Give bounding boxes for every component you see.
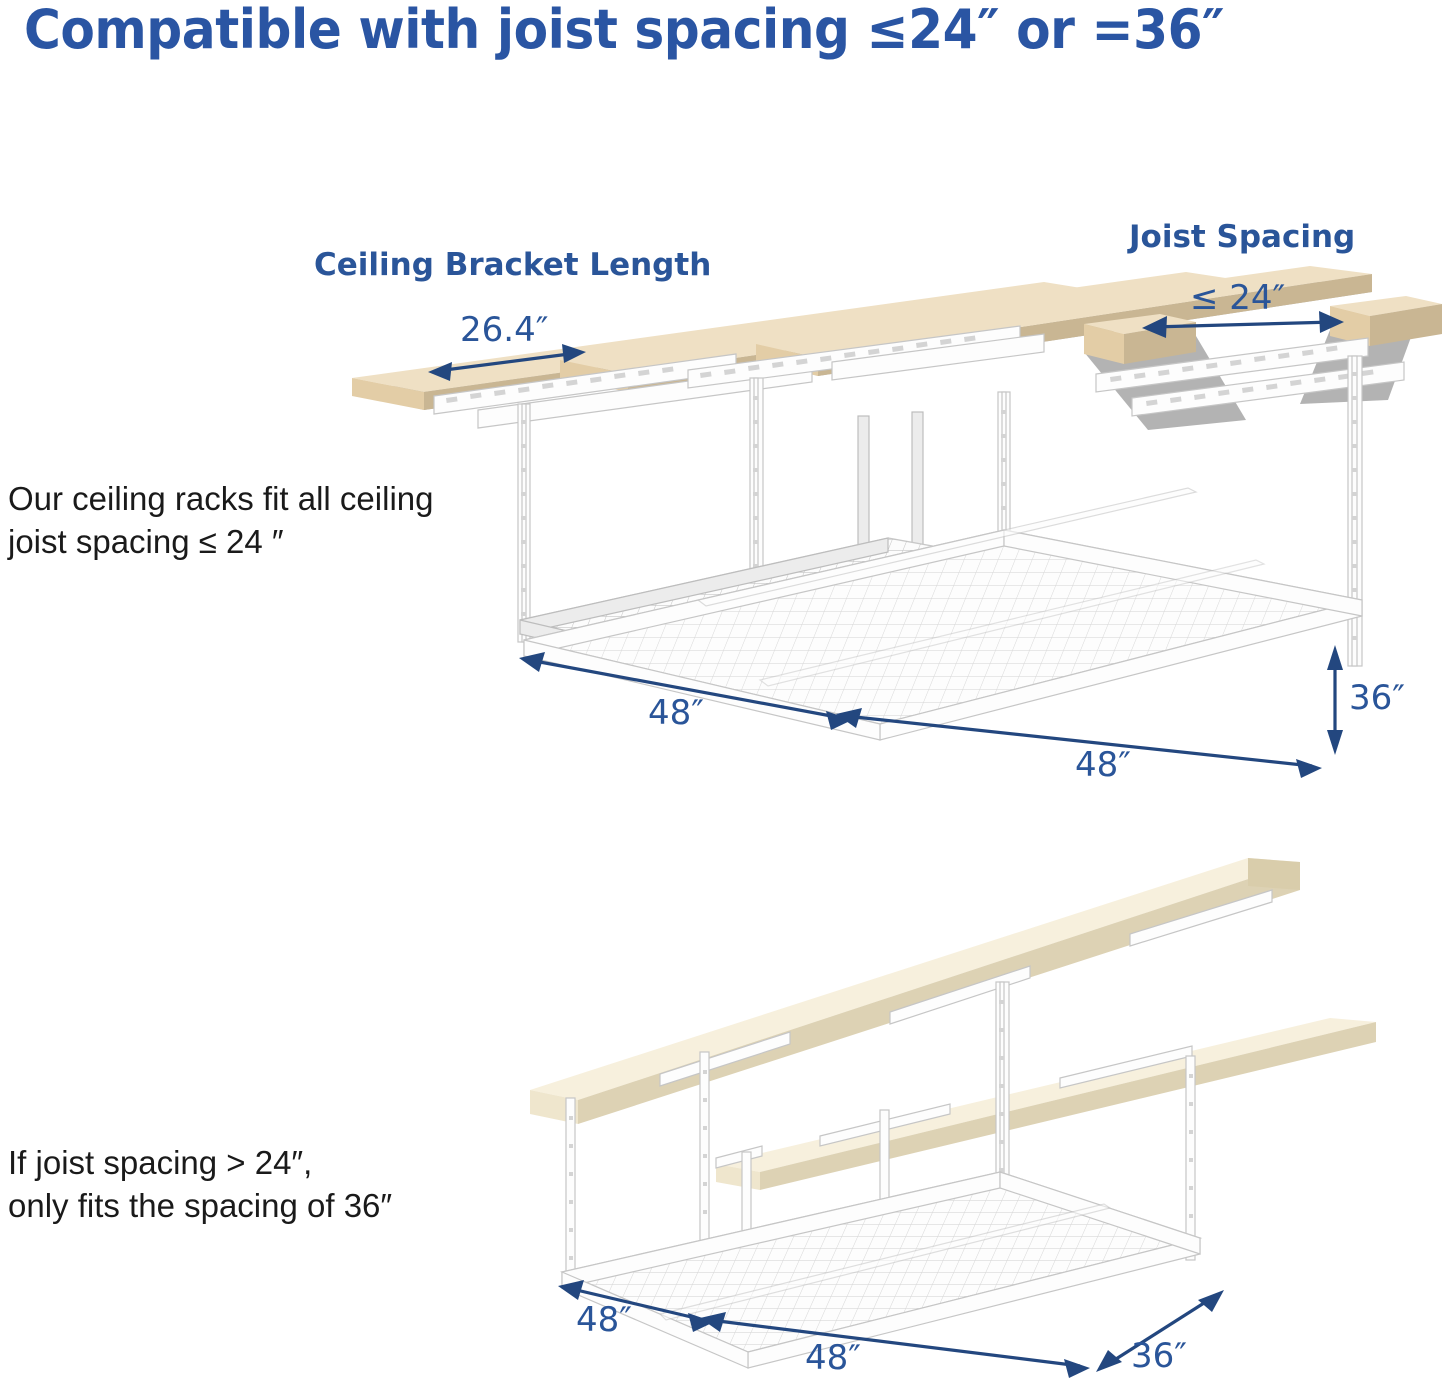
label-upper-width-2: 48″ — [1075, 745, 1131, 785]
label-ceiling-bracket-length: Ceiling Bracket Length — [314, 247, 711, 283]
product-diagram-page: Compatible with joist spacing ≤24″ or =3… — [0, 0, 1445, 1386]
rack-illustrations — [0, 0, 1445, 1386]
label-lower-width-1: 48″ — [576, 1300, 632, 1340]
label-joist-spacing: Joist Spacing — [1129, 219, 1355, 255]
label-lower-depth: 36″ — [1131, 1336, 1187, 1376]
lower-shelf-deck — [562, 1172, 1200, 1368]
label-joist-value: ≤ 24″ — [1190, 278, 1285, 318]
dimension-arrow-upper-depth — [1327, 645, 1343, 755]
lower-rack-assembly — [530, 858, 1376, 1378]
label-upper-width-1: 48″ — [648, 693, 704, 733]
label-upper-depth: 36″ — [1349, 678, 1405, 718]
label-bracket-value: 26.4″ — [460, 310, 548, 350]
label-lower-width-2: 48″ — [805, 1338, 861, 1378]
